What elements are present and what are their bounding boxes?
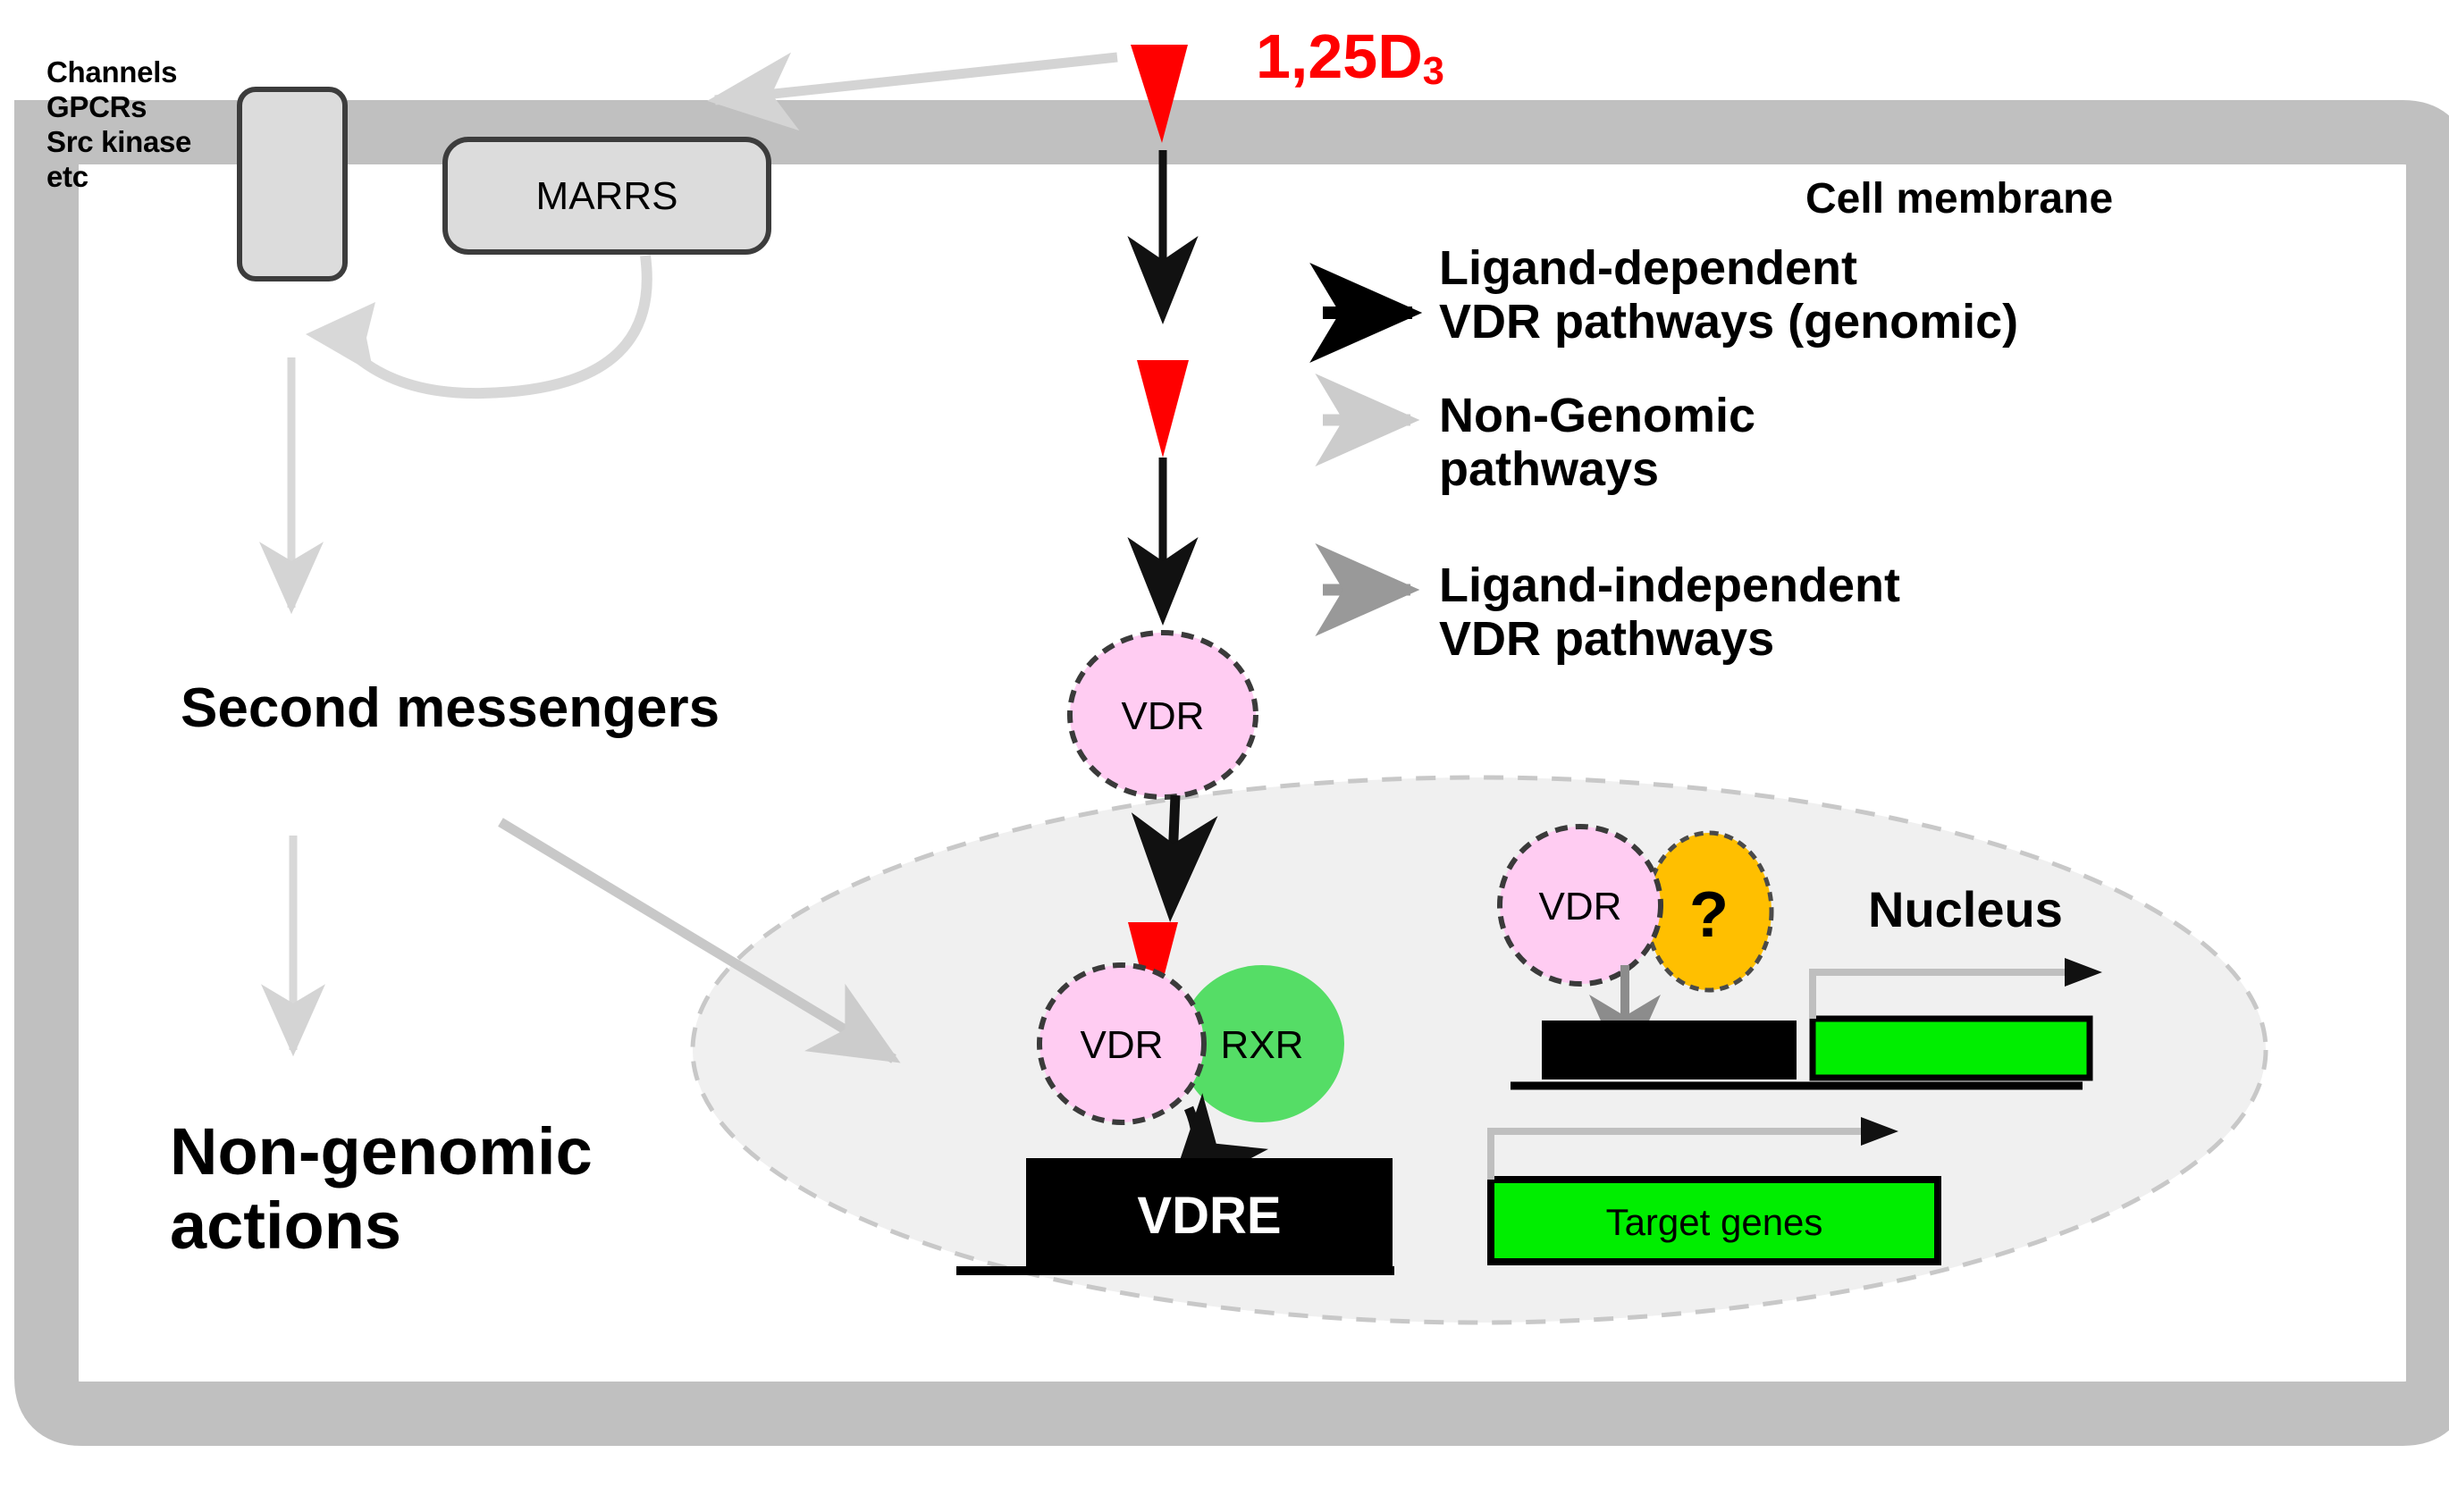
marrs-feedback-arrow [306, 256, 647, 393]
nucleus-label: Nucleus [1868, 883, 2063, 936]
second-messengers-label: Second messengers [181, 679, 720, 738]
ligand-triangle-cytoplasm [1137, 360, 1189, 458]
vdre-label: VDRE [1137, 1187, 1281, 1245]
ligand-title: 1,25D3 [1256, 23, 1444, 89]
nongenomic-surface-arrow [715, 57, 1117, 100]
marrs-label: MARRS [536, 174, 678, 218]
vdr-translocation-arrow [1171, 795, 1175, 903]
vdr-nuclear-label: VDR [1081, 1023, 1164, 1067]
vdr-nuclear: VDR [1039, 965, 1204, 1122]
vdr-ligand-independent: VDR [1500, 827, 1661, 984]
legend-item-non-genomic: Non-Genomic pathways [1439, 389, 2279, 497]
surface-receptors-label: Channels GPCRs Src kinase etc [46, 55, 270, 195]
unknown-partner-label: ? [1689, 879, 1729, 951]
cell-membrane-label: Cell membrane [1805, 177, 2113, 223]
marrs-receptor: MARRS [445, 139, 769, 252]
non-genomic-actions-label: Non-genomic actions [170, 1115, 795, 1264]
vdr-independent-label: VDR [1539, 885, 1622, 928]
vdr-pathway-diagram: MARRS VDR [0, 0, 2449, 1512]
diagram-canvas: MARRS VDR [0, 0, 2449, 1512]
unknown-partner: ? [1646, 833, 1772, 990]
vdr-cytoplasm: VDR [1070, 633, 1256, 797]
legend-item-ligand-dependent: Ligand-dependent VDR pathways (genomic) [1439, 241, 2279, 349]
rxr-label: RXR [1221, 1023, 1304, 1067]
legend-item-ligand-independent: Ligand-independent VDR pathways [1439, 559, 2279, 667]
target-genes-label: Target genes [1606, 1201, 1823, 1243]
vdr-cytoplasm-label: VDR [1122, 694, 1205, 738]
